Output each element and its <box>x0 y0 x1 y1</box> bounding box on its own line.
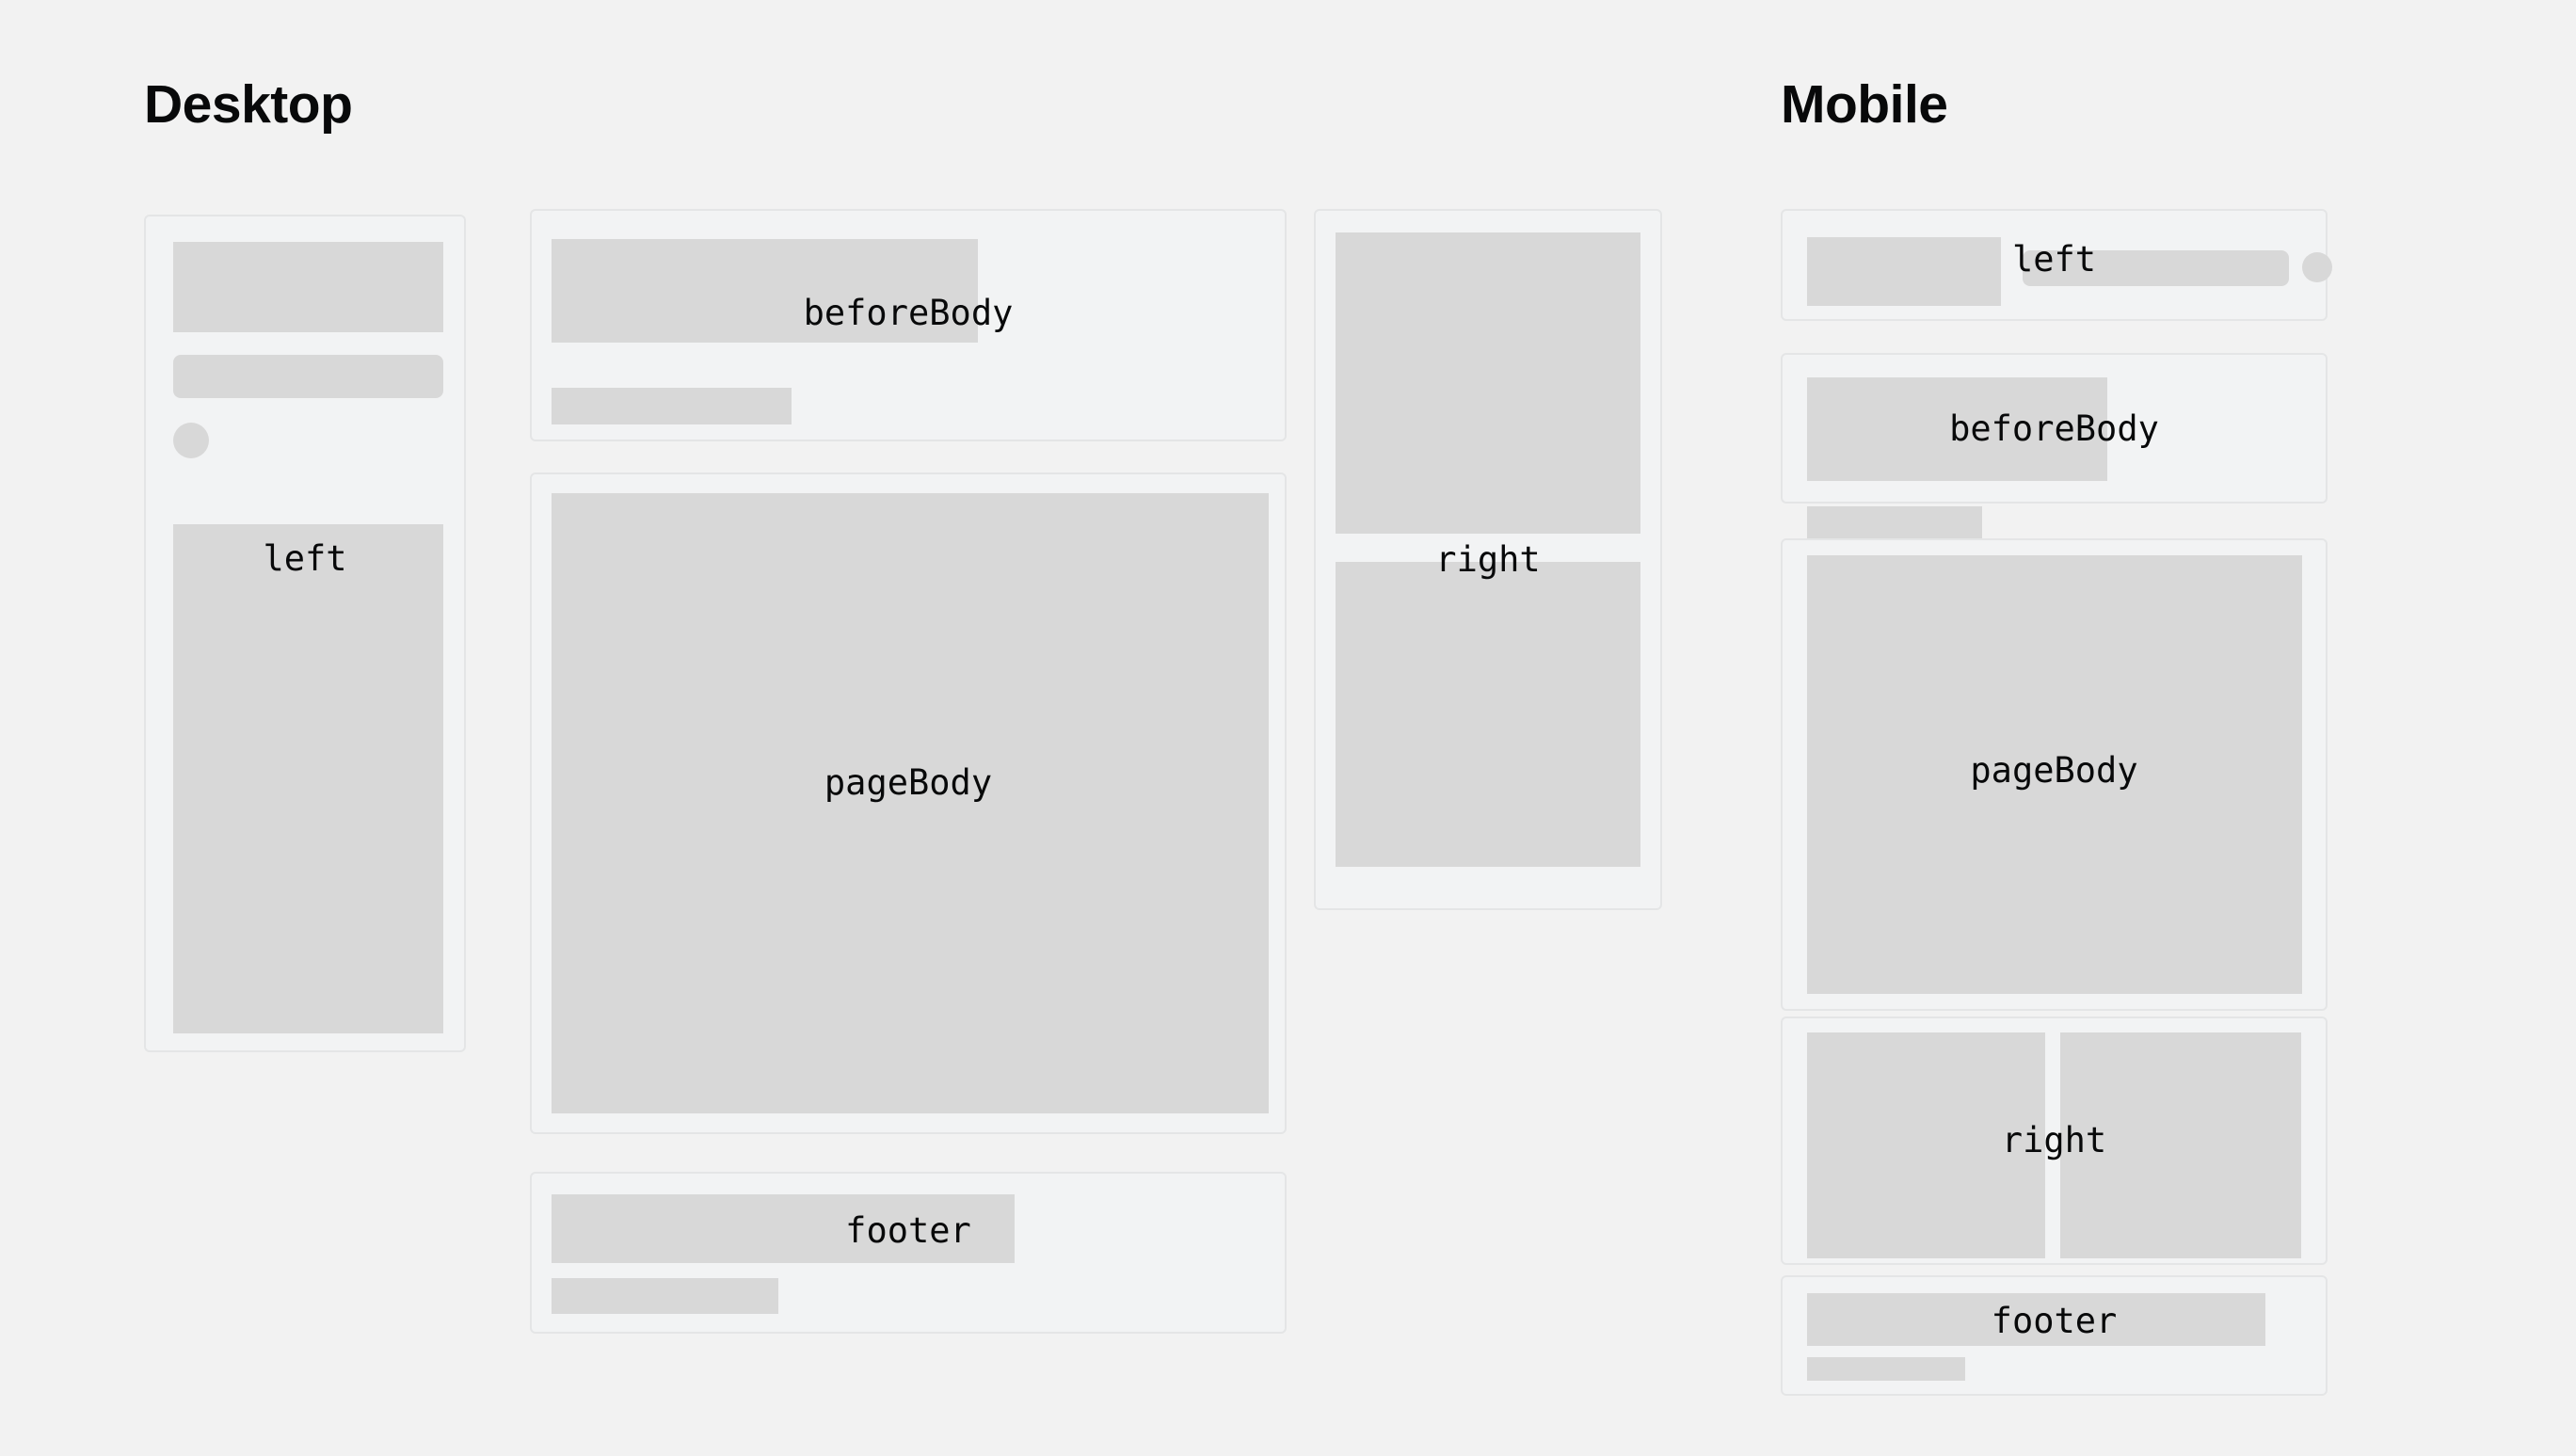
desktop-footer-skeleton-block-wide <box>552 1194 1015 1263</box>
desktop-left-skeleton-block-pill <box>173 355 443 398</box>
desktop-right-slot-panel[interactable] <box>1314 209 1662 910</box>
wireframe-comparison-page: Desktop left beforeBody pageBody footer … <box>0 0 2576 1456</box>
desktop-left-skeleton-block-tall <box>173 524 443 1033</box>
desktop-right-skeleton-block-square-bottom <box>1336 562 1640 867</box>
mobile-footer-skeleton-block-wide <box>1807 1293 2265 1346</box>
mobile-right-skeleton-block-col-left <box>1807 1032 2045 1258</box>
mobile-section-title: Mobile <box>1781 78 1948 132</box>
mobile-footer-slot-panel[interactable] <box>1781 1275 2328 1396</box>
mobile-before-body-skeleton-block-wide <box>1807 377 2107 481</box>
desktop-footer-slot-panel[interactable] <box>530 1172 1287 1334</box>
mobile-before-body-slot-panel[interactable] <box>1781 353 2328 504</box>
mobile-footer-skeleton-block-small <box>1807 1357 1965 1381</box>
mobile-left-skeleton-block-pill <box>2023 250 2289 286</box>
mobile-before-body-skeleton-block-small <box>1807 506 1982 538</box>
desktop-left-skeleton-block-large <box>173 242 443 332</box>
desktop-right-skeleton-block-square-top <box>1336 232 1640 534</box>
mobile-right-skeleton-block-col-right <box>2060 1032 2301 1258</box>
desktop-page-body-slot-panel[interactable] <box>530 472 1287 1134</box>
mobile-right-slot-panel[interactable] <box>1781 1016 2328 1265</box>
mobile-page-body-slot-panel[interactable] <box>1781 538 2328 1011</box>
desktop-footer-skeleton-block-small <box>552 1278 778 1314</box>
desktop-before-body-skeleton-block-wide <box>552 239 978 343</box>
desktop-before-body-slot-panel[interactable] <box>530 209 1287 441</box>
mobile-left-slot-panel[interactable] <box>1781 209 2328 321</box>
desktop-section-title: Desktop <box>144 78 352 132</box>
desktop-left-skeleton-circle-avatar <box>173 423 209 458</box>
mobile-page-body-skeleton-block-fill <box>1807 555 2302 994</box>
desktop-before-body-skeleton-block-small <box>552 388 792 424</box>
mobile-left-skeleton-block-rect <box>1807 237 2001 306</box>
mobile-left-skeleton-circle-avatar <box>2302 252 2332 282</box>
desktop-left-slot-panel[interactable] <box>144 215 466 1052</box>
desktop-page-body-skeleton-block-fill <box>552 493 1269 1113</box>
